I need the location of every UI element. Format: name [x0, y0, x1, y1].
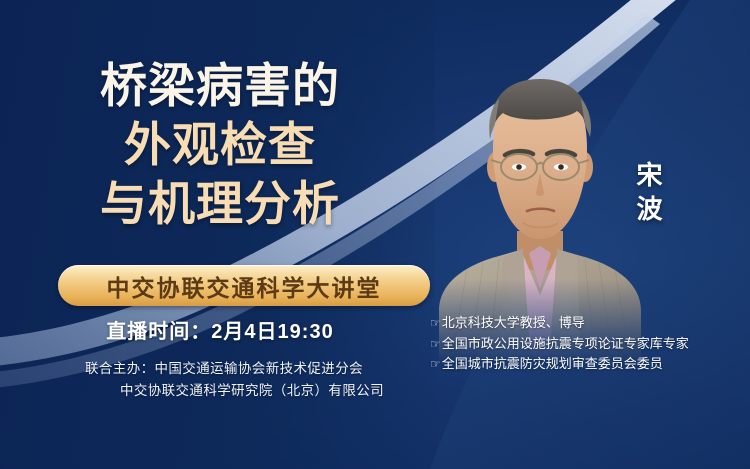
title-line-1: 桥梁病害的 [0, 56, 440, 115]
pointing-hand-icon: ☞ [430, 355, 441, 374]
pointing-hand-icon: ☞ [430, 335, 441, 354]
title-line-2: 外观检查 [0, 115, 440, 174]
credential-item: ☞ 北京科技大学教授、博导 [430, 313, 750, 334]
poster-title: 桥梁病害的 外观检查 与机理分析 [0, 56, 440, 234]
credential-label: 全国城市抗震防灾规划审查委员会委员 [442, 354, 663, 375]
speaker-name: 宋波 [633, 158, 667, 227]
series-banner: 中交协联交通科学大讲堂 [58, 265, 430, 306]
credential-label: 全国市政公用设施抗震专项论证专家库专家 [442, 334, 689, 355]
webinar-poster: 桥梁病害的 外观检查 与机理分析 中交协联交通科学大讲堂 直播时间：2月4日19… [0, 0, 750, 469]
organizers-block: 联合主办：中国交通运输协会新技术促进分会 中交协联交通科学研究院（北京）有限公司 [0, 358, 448, 402]
title-line-3: 与机理分析 [0, 174, 440, 233]
pointing-hand-icon: ☞ [430, 314, 441, 333]
credential-item: ☞ 全国城市抗震防灾规划审查委员会委员 [430, 354, 750, 375]
organizer-line-1: 联合主办：中国交通运输协会新技术促进分会 [0, 358, 448, 380]
series-banner-label: 中交协联交通科学大讲堂 [107, 269, 382, 303]
organizer-line-2: 中交协联交通科学研究院（北京）有限公司 [0, 380, 448, 402]
broadcast-datetime: 直播时间：2月4日19:30 [0, 315, 440, 344]
credential-item: ☞ 全国市政公用设施抗震专项论证专家库专家 [430, 334, 750, 355]
credential-label: 北京科技大学教授、博导 [442, 313, 585, 334]
speaker-credentials: ☞ 北京科技大学教授、博导 ☞ 全国市政公用设施抗震专项论证专家库专家 ☞ 全国… [430, 313, 750, 375]
